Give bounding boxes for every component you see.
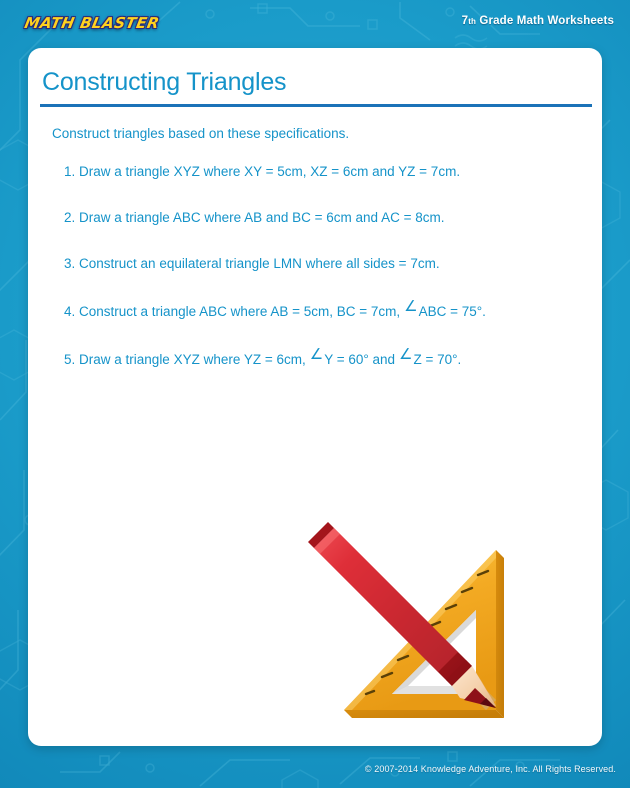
angle-icon: ∠	[404, 297, 417, 316]
question-text: Draw a triangle XYZ where YZ = 6cm,	[79, 352, 306, 367]
question-text-angle-part: Y = 60° and	[324, 352, 395, 367]
question-text: Construct an equilateral triangle LMN wh…	[79, 256, 440, 271]
question-item-5: 5. Draw a triangle XYZ where YZ = 6cm,∠Y…	[64, 350, 584, 369]
math-blaster-logo-text: MATH BLASTER	[23, 9, 160, 37]
angle-icon: ∠	[310, 345, 323, 364]
question-number: 1.	[64, 164, 75, 179]
angle-icon: ∠	[399, 345, 412, 364]
question-number: 4.	[64, 304, 75, 319]
question-number: 2.	[64, 210, 75, 225]
question-item-2: 2. Draw a triangle ABC where AB and BC =…	[64, 210, 584, 227]
question-item-3: 3. Construct an equilateral triangle LMN…	[64, 256, 584, 273]
title-divider	[40, 104, 592, 107]
page-header: MATH BLASTER 7th Grade Math Worksheets	[0, 0, 630, 48]
question-item-1: 1. Draw a triangle XYZ where XY = 5cm, X…	[64, 164, 584, 181]
copyright-footer: © 2007-2014 Knowledge Adventure, Inc. Al…	[365, 764, 616, 774]
question-item-4: 4. Construct a triangle ABC where AB = 5…	[64, 302, 584, 321]
question-number: 3.	[64, 256, 75, 271]
math-blaster-logo[interactable]: MATH BLASTER	[26, 9, 158, 37]
question-text: Construct a triangle ABC where AB = 5cm,…	[79, 304, 400, 319]
grade-level-label: 7th Grade Math Worksheets	[462, 15, 614, 27]
worksheet-card: Constructing Triangles Construct triangl…	[28, 48, 602, 746]
question-text: Draw a triangle ABC where AB and BC = 6c…	[79, 210, 444, 225]
question-number: 5.	[64, 352, 75, 367]
question-list: 1. Draw a triangle XYZ where XY = 5cm, X…	[64, 164, 584, 397]
grade-ordinal-suffix: th	[468, 17, 476, 26]
question-text: Draw a triangle XYZ where XY = 5cm, XZ =…	[79, 164, 460, 179]
pencil-and-set-square-illustration	[300, 518, 590, 733]
question-text-angle-part: ABC = 75°.	[419, 304, 486, 319]
instruction-text: Construct triangles based on these speci…	[52, 126, 349, 141]
page-title: Constructing Triangles	[42, 68, 286, 97]
question-text-angle-part-2: Z = 70°.	[414, 352, 462, 367]
grade-label-rest: Grade Math Worksheets	[476, 15, 614, 27]
